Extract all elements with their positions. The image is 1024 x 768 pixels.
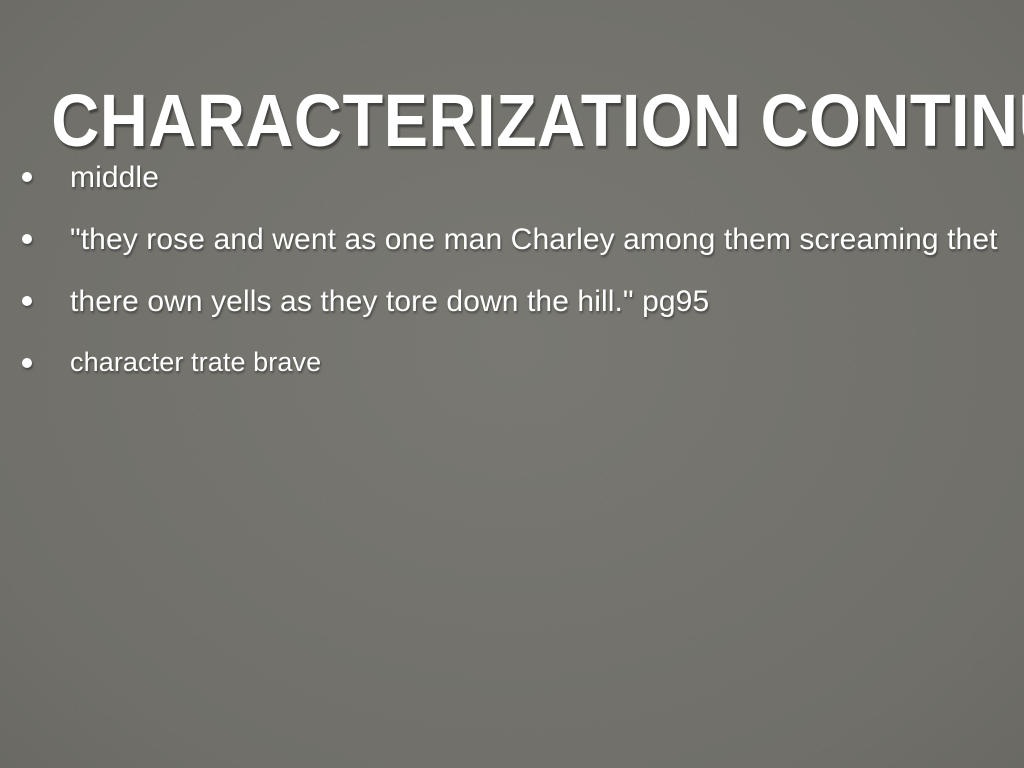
bullet-dot-icon [22,296,32,306]
list-item: character trate brave [0,332,1024,394]
list-item: middle [0,146,1024,208]
list-item-text: middle [70,161,159,194]
list-item-text: there own yells as they tore down the hi… [70,285,709,318]
presentation-slide: Characterization Continued middle "they … [0,0,1024,768]
bullet-dot-icon [22,234,32,244]
bullet-list: middle "they rose and went as one man Ch… [0,146,1024,394]
bullet-dot-icon [22,358,32,368]
list-item-text: character trate brave [70,348,321,378]
list-item: there own yells as they tore down the hi… [0,270,1024,332]
list-item: "they rose and went as one man Charley a… [0,208,1024,270]
bullet-dot-icon [22,172,32,182]
list-item-text: "they rose and went as one man Charley a… [70,223,998,256]
